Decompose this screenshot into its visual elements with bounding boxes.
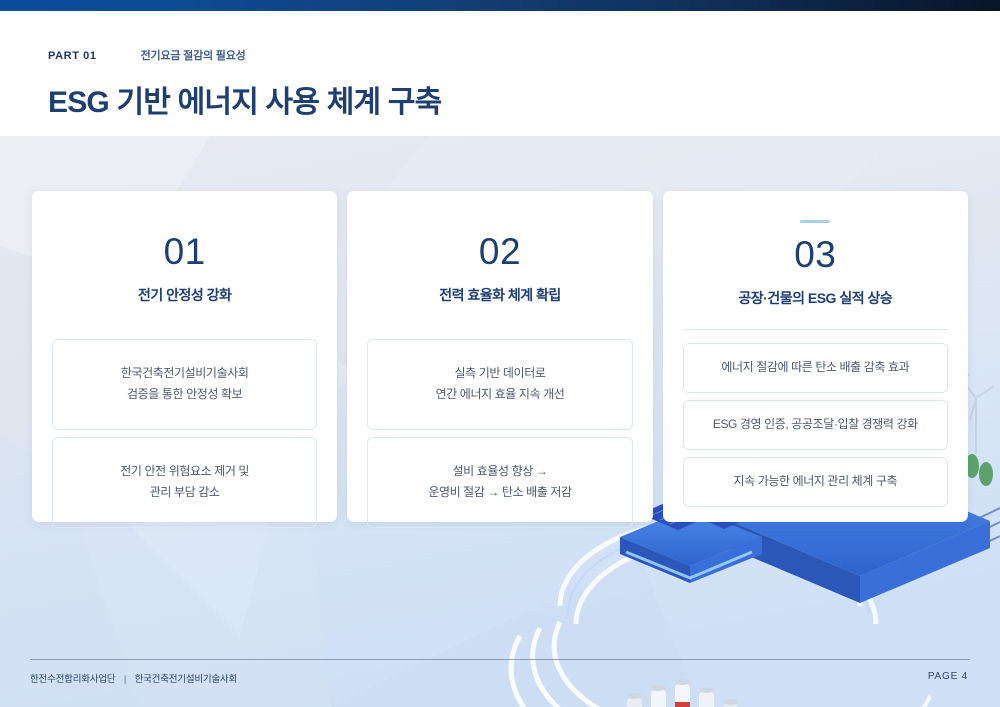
card-divider [683, 329, 948, 330]
part-label: PART 01 [48, 50, 97, 62]
card-number: 02 [479, 231, 521, 274]
footer-org-primary: 한전수전합리화사업단 [30, 674, 115, 685]
card-item-list: 실측 기반 데이터로연간 에너지 효율 지속 개선 설비 효율성 향상 →운영비… [367, 339, 632, 528]
card-03: 03 공장·건물의 ESG 실적 상승 에너지 절감에 따른 탄소 배출 감축 … [663, 191, 968, 522]
list-item: 한국건축전기설비기술사회검증을 통한 안정성 확보 [52, 339, 317, 430]
card-grid: 01 전기 안정성 강화 한국건축전기설비기술사회검증을 통한 안정성 확보 전… [32, 191, 968, 522]
footer-separator: | [124, 674, 126, 685]
card-heading: 공장·건물의 ESG 실적 상승 [738, 288, 892, 308]
card-heading: 전력 효율화 체계 확립 [439, 285, 561, 305]
card-item-list: 에너지 절감에 따른 탄소 배출 감축 효과 ESG 경영 인증, 공공조달·입… [683, 343, 948, 507]
accent-dash-icon [800, 220, 830, 223]
footer-org-secondary: 한국건축전기설비기술사회 [135, 674, 237, 685]
list-item: ESG 경영 인증, 공공조달·입찰 경쟁력 강화 [683, 400, 948, 450]
list-item: 에너지 절감에 따른 탄소 배출 감축 효과 [683, 343, 948, 393]
footer-organizations: 한전수전합리화사업단 | 한국건축전기설비기술사회 [30, 671, 237, 685]
slide: PART 01 전기요금 절감의 필요성 ESG 기반 에너지 사용 체계 구축… [0, 0, 1000, 707]
slide-header: PART 01 전기요금 절감의 필요성 ESG 기반 에너지 사용 체계 구축 [0, 11, 1000, 136]
slide-footer: 한전수전합리화사업단 | 한국건축전기설비기술사회 PAGE 4 [0, 647, 1000, 707]
card-heading: 전기 안정성 강화 [138, 285, 231, 305]
footer-divider [30, 659, 970, 660]
list-item: 전기 안전 위험요소 제거 및관리 부담 감소 [52, 437, 317, 528]
part-row: PART 01 전기요금 절감의 필요성 [48, 47, 246, 63]
card-item-list: 한국건축전기설비기술사회검증을 통한 안정성 확보 전기 안전 위험요소 제거 … [52, 339, 317, 528]
page-title: ESG 기반 에너지 사용 체계 구축 [48, 86, 441, 119]
part-subtitle: 전기요금 절감의 필요성 [141, 47, 246, 63]
card-number: 01 [164, 231, 206, 274]
card-02: 02 전력 효율화 체계 확립 실측 기반 데이터로연간 에너지 효율 지속 개… [347, 191, 652, 522]
top-accent-bar [0, 0, 1000, 11]
card-number: 03 [794, 234, 836, 277]
page-number: PAGE 4 [928, 671, 968, 682]
list-item: 설비 효율성 향상 →운영비 절감 → 탄소 배출 저감 [367, 437, 632, 528]
list-item: 실측 기반 데이터로연간 에너지 효율 지속 개선 [367, 339, 632, 430]
list-item: 지속 가능한 에너지 관리 체계 구축 [683, 457, 948, 507]
card-01: 01 전기 안정성 강화 한국건축전기설비기술사회검증을 통한 안정성 확보 전… [32, 191, 337, 522]
